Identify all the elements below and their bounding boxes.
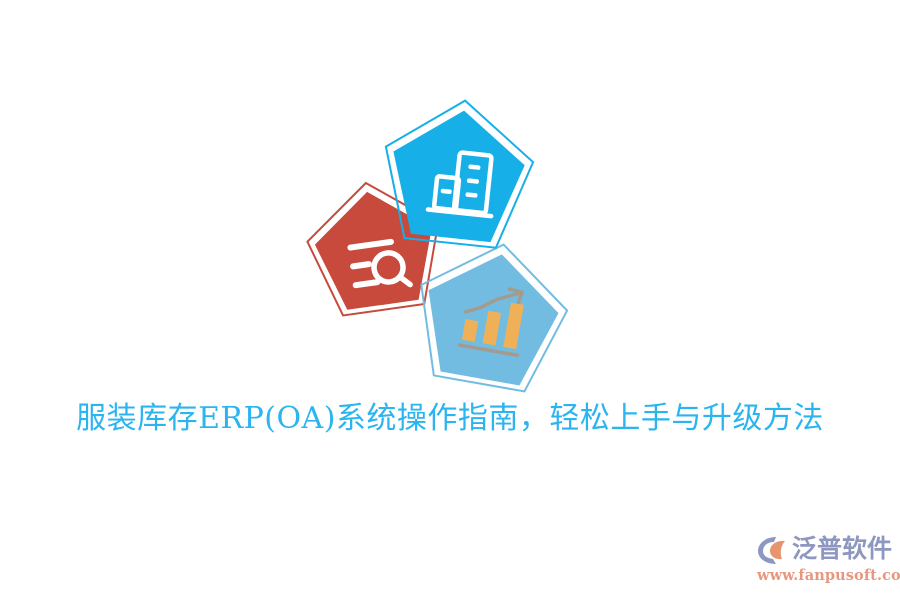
brand-logo: 泛普软件 www.fanpusoft.com [757, 532, 895, 588]
page-canvas: 服装库存ERP(OA)系统操作指南，轻松上手与升级方法 泛普软件 www.fan… [0, 0, 900, 600]
brand-url: www.fanpusoft.com [757, 567, 895, 585]
fanpu-crescent-mark-icon [757, 535, 789, 565]
page-title: 服装库存ERP(OA)系统操作指南，轻松上手与升级方法 [0, 398, 900, 440]
brand-name: 泛普软件 [792, 534, 892, 564]
brand-row: 泛普软件 [757, 532, 895, 566]
hero-graphic [280, 88, 610, 398]
